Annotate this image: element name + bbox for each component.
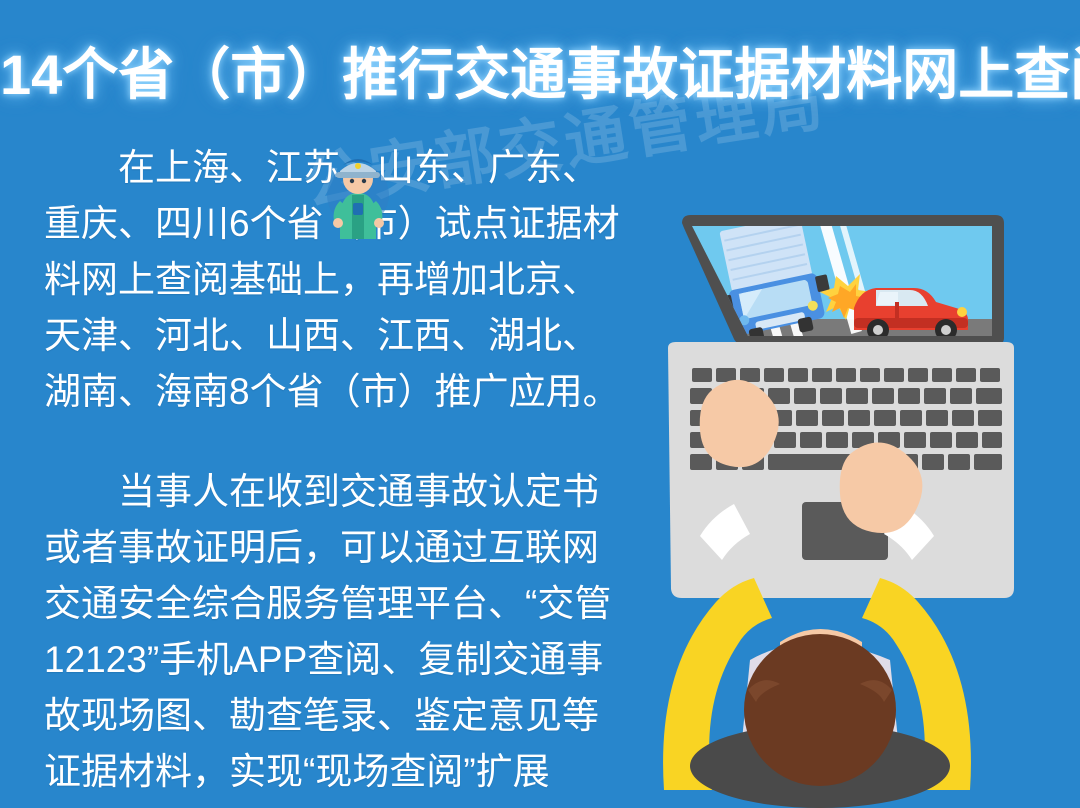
paragraph-1: 在上海、江苏、山东、广东、重庆、四川6个省（市）试点证据材料网上查阅基础上，再增… [44,140,629,420]
page-title: 14个省（市）推行交通事故证据材料网上查阅 [0,30,1080,111]
head-hair [744,634,896,786]
poster-canvas: 公安部交通管理局 14个省（市）推行交通事故证据材料网上查阅 在上海、江苏、山东… [0,0,1080,808]
illustration-person-at-laptop [640,190,1040,808]
laptop-base [668,342,1014,598]
body-copy: 在上海、江苏、山东、广东、重庆、四川6个省（市）试点证据材料网上查阅基础上，再增… [44,140,629,808]
laptop-lid [680,207,1010,355]
paragraph-2: 当事人在收到交通事故认定书或者事故证明后，可以通过互联网交通安全综合服务管理平台… [44,464,629,808]
